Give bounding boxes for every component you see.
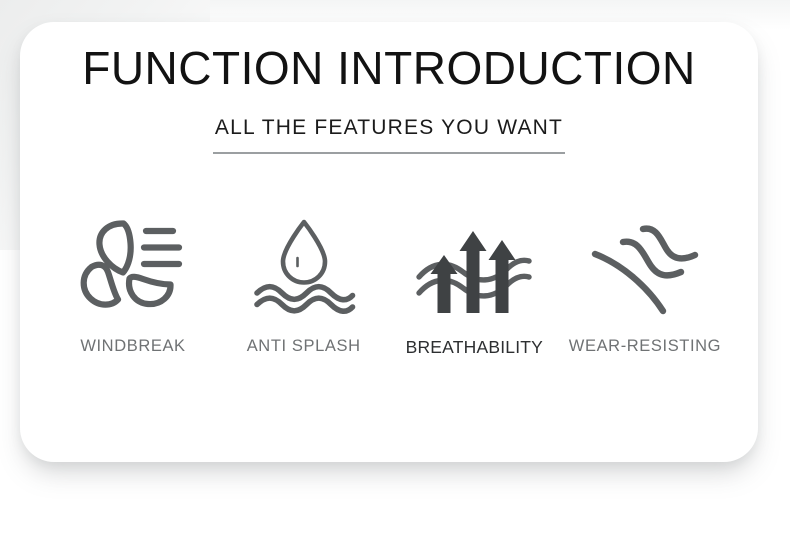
feature-item-wear-resisting: WEAR-RESISTING — [560, 208, 730, 356]
feature-label-windbreak: WINDBREAK — [80, 337, 185, 356]
water-drop-waves-icon — [239, 208, 369, 323]
page-subtitle: ALL THE FEATURES YOU WANT — [215, 116, 563, 140]
feature-item-windbreak: WINDBREAK — [48, 208, 218, 356]
feature-item-anti-splash: ANTI SPLASH — [219, 208, 389, 356]
feature-label-anti-splash: ANTI SPLASH — [247, 337, 361, 356]
subtitle-divider — [213, 152, 565, 154]
feature-list: WINDBREAK ANTI SPLA — [48, 208, 730, 358]
abrasion-curves-icon — [580, 208, 710, 323]
feature-label-breathability: BREATHABILITY — [406, 337, 543, 358]
feature-item-breathability: BREATHABILITY — [389, 208, 559, 358]
subtitle-block: ALL THE FEATURES YOU WANT — [20, 116, 758, 154]
feature-label-wear-resisting: WEAR-RESISTING — [569, 337, 721, 356]
card-header: FUNCTION INTRODUCTION ALL THE FEATURES Y… — [20, 22, 758, 154]
fan-windbreak-icon — [68, 208, 198, 323]
feature-card: FUNCTION INTRODUCTION ALL THE FEATURES Y… — [20, 22, 758, 462]
page-title: FUNCTION INTRODUCTION — [20, 22, 758, 92]
up-arrows-airflow-icon — [409, 208, 539, 323]
